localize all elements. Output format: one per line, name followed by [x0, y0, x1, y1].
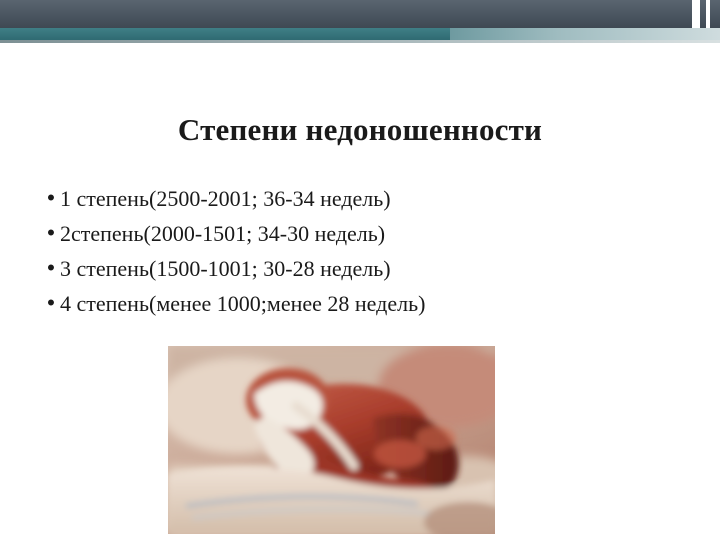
list-item-label: 1 степень(2500-2001; 36-34 недель)	[60, 183, 391, 215]
banner-thin-line	[0, 40, 720, 43]
list-item-label: 4 степень(менее 1000;менее 28 недель)	[60, 288, 425, 320]
photo-content	[168, 346, 495, 534]
list-item: • 4 степень(менее 1000;менее 28 недель)	[42, 288, 692, 323]
list-item: • 1 степень(2500-2001; 36-34 недель)	[42, 183, 692, 218]
banner-teal-bar	[0, 28, 450, 40]
banner-notch-right	[706, 0, 710, 28]
bullet-dot-icon: •	[42, 183, 60, 213]
banner-teal-fade	[450, 28, 720, 40]
list-item-label: 2степень(2000-1501; 34-30 недель)	[60, 218, 385, 250]
banner-dark-bar	[0, 0, 720, 28]
list-item: • 3 степень(1500-1001; 30-28 недель)	[42, 253, 692, 288]
list-item: • 2степень(2000-1501; 34-30 недель)	[42, 218, 692, 253]
bullet-list: • 1 степень(2500-2001; 36-34 недель) • 2…	[42, 183, 692, 323]
bullet-dot-icon: •	[42, 218, 60, 248]
list-item-label: 3 степень(1500-1001; 30-28 недель)	[60, 253, 391, 285]
page-title: Степени недоношенности	[0, 112, 720, 148]
premature-infant-incubator-photo	[168, 346, 495, 534]
bullet-dot-icon: •	[42, 288, 60, 318]
bullet-dot-icon: •	[42, 253, 60, 283]
slide-top-banner	[0, 0, 720, 46]
banner-notch-left	[692, 0, 700, 28]
